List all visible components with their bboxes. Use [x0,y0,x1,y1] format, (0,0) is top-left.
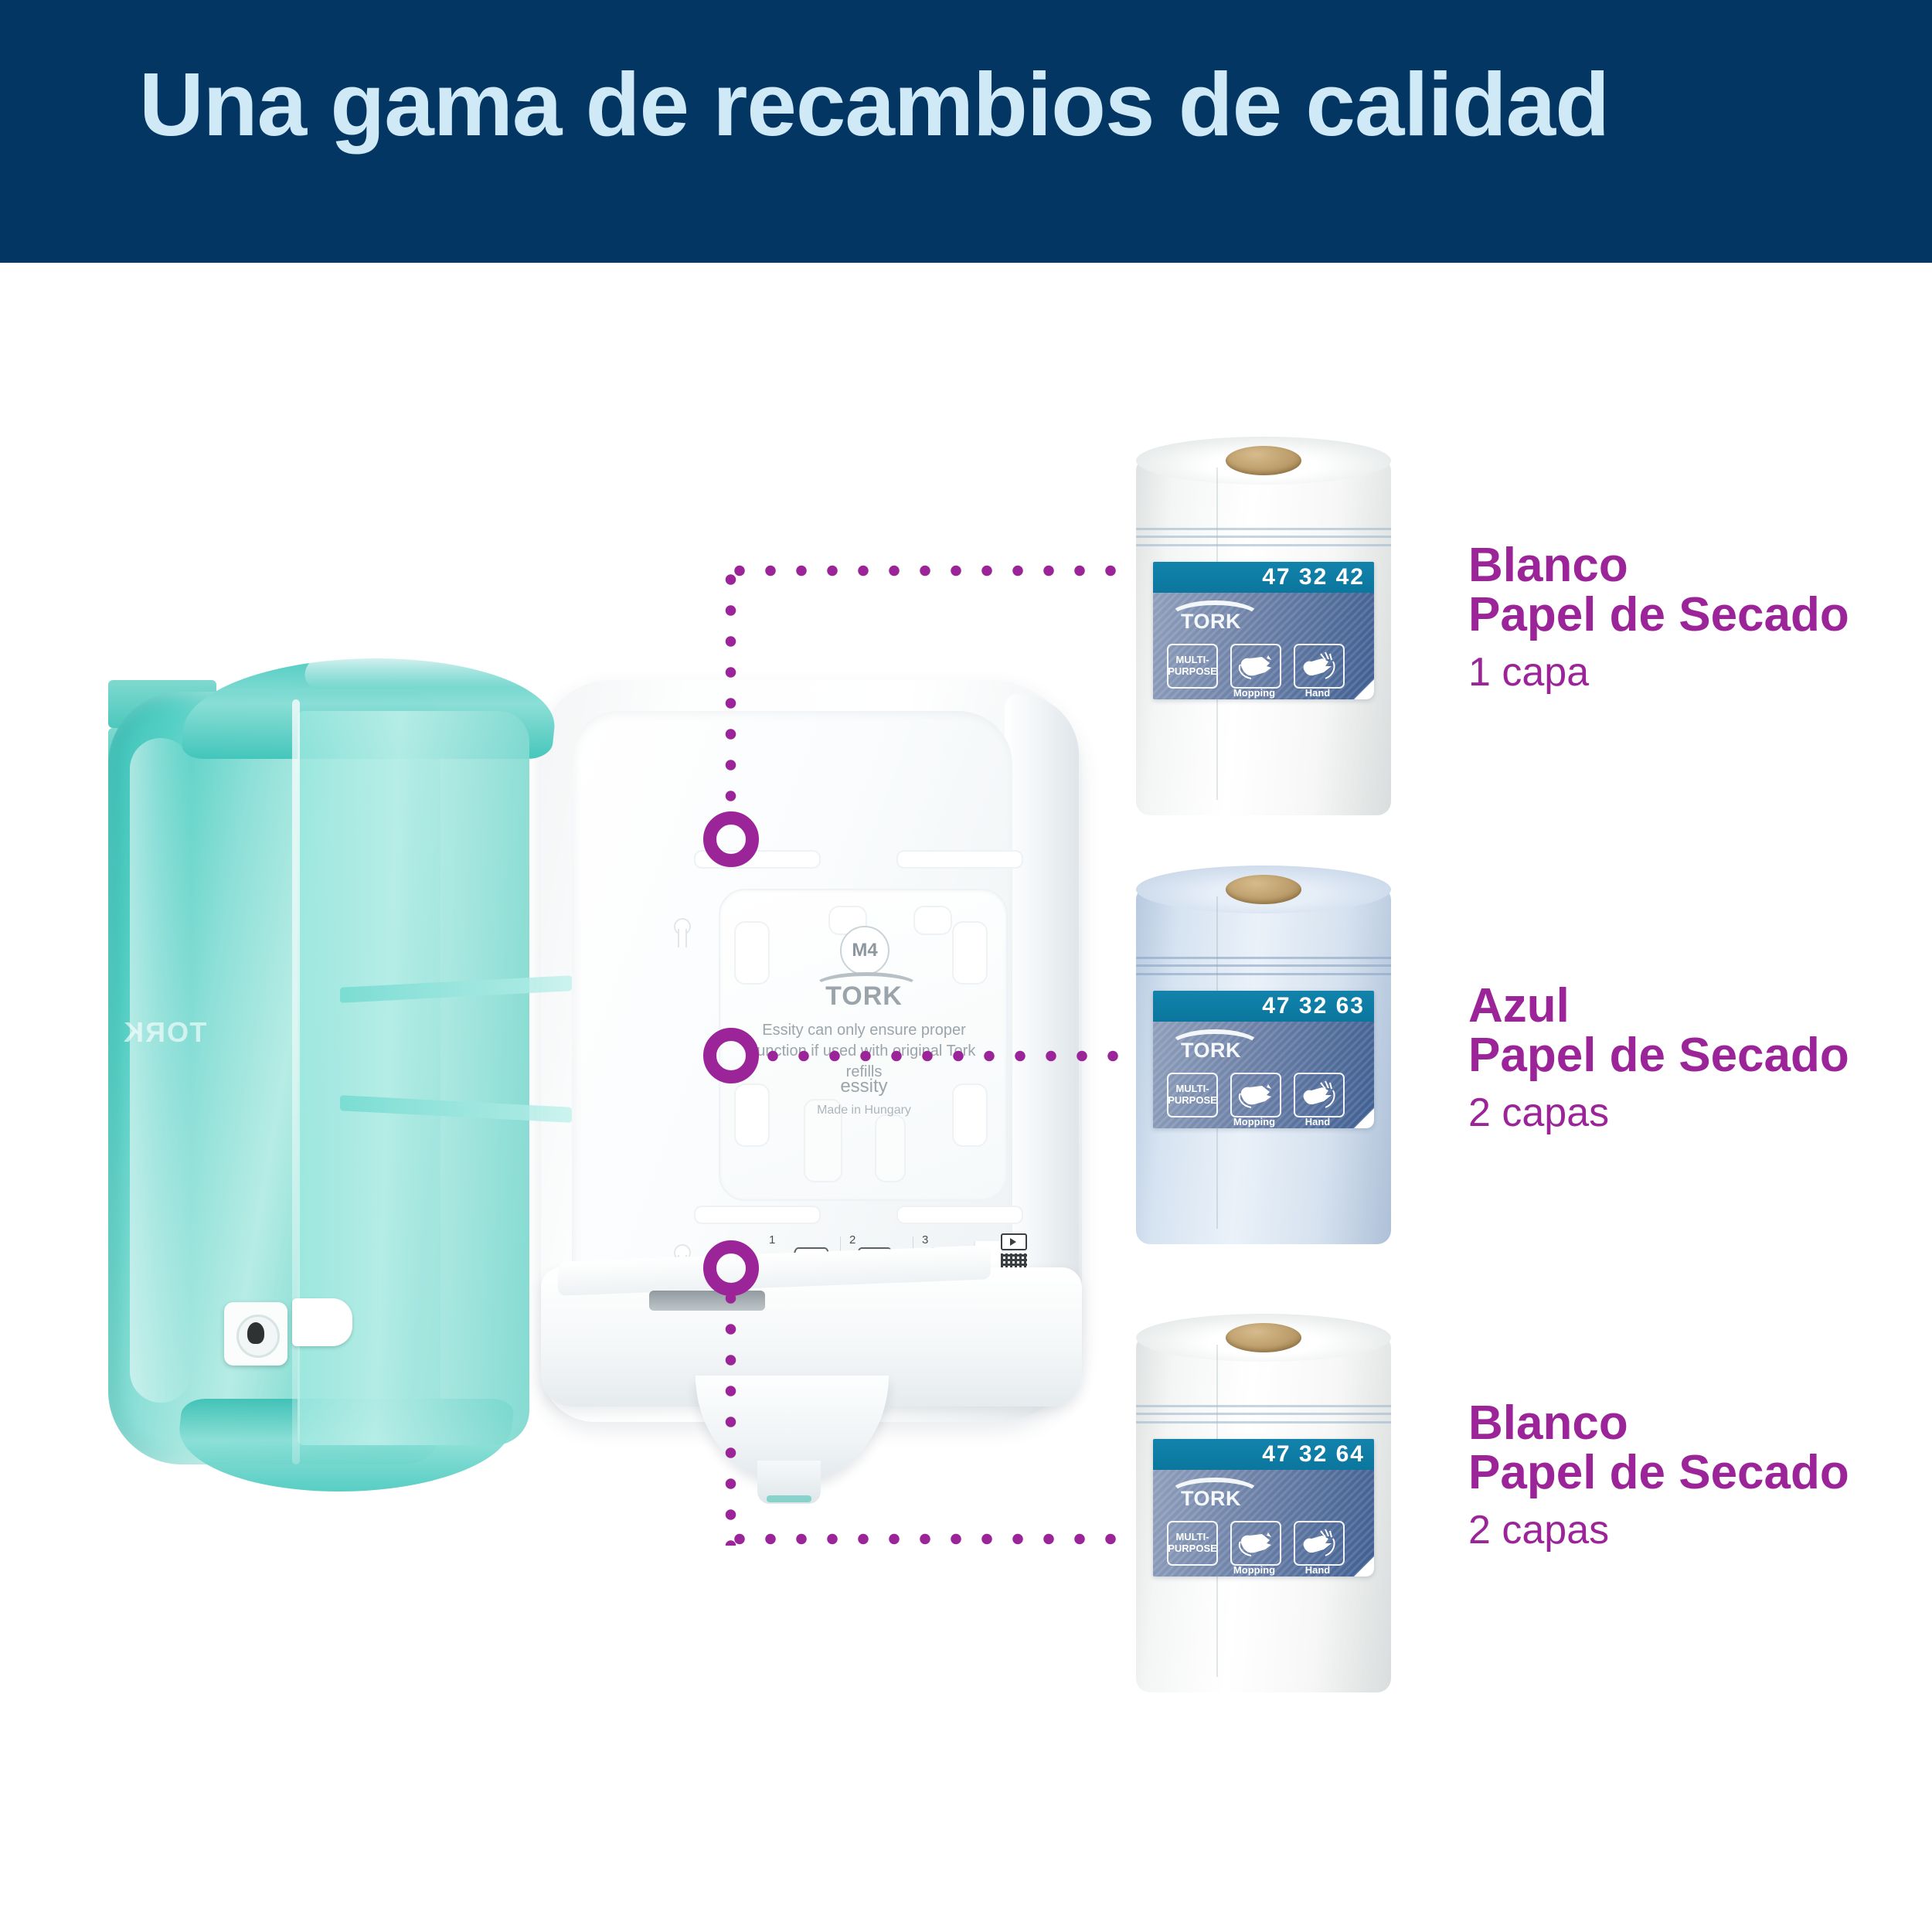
backplate-company: essity [751,1076,977,1097]
multi-purpose-line1: MULTI- [1175,1531,1209,1543]
roll-stripe [1136,973,1391,975]
roll-stripe [1136,544,1391,546]
step-number: 2 [849,1233,855,1247]
product-type: Papel de Secado [1468,590,1932,640]
connector-line-bottom-horizontal [724,1532,1126,1546]
hand-wiping-glyph [1299,1526,1339,1560]
roll-stripe [1136,1405,1391,1407]
step-number: 3 [922,1233,928,1247]
roll-stripe [1136,957,1391,959]
mopping-hand-glyph [1236,649,1276,683]
page-title: Una gama de recambios de calidad [139,56,1609,155]
product-ply: 1 capa [1468,648,1932,696]
interior-vent [896,1206,1023,1224]
mopping-hand-glyph [1236,1078,1276,1112]
hand-wiping-icon [1294,1073,1345,1117]
roll-stripe [1136,528,1391,530]
product-label-2: 47 32 63 TORK MULTI- PURPOSE [1153,991,1374,1128]
label-body: TORK MULTI- PURPOSE [1153,1022,1374,1128]
connector-ring-middle [703,1028,759,1083]
multi-purpose-text: MULTI- PURPOSE [1168,1532,1217,1555]
roll-stripe [1136,964,1391,967]
product-ply: 2 capas [1468,1506,1932,1554]
mopping-hand-glyph [1236,1526,1276,1560]
product-roll-3: 47 32 64 TORK MULTI- PURPOSE [1136,1314,1391,1692]
multi-purpose-badge: MULTI- PURPOSE [1167,644,1218,689]
cover-top-highlight [301,654,596,688]
cover-seam [292,699,300,1464]
roll-core-hole [1226,446,1301,475]
product-color-name: Blanco [1468,1399,1932,1448]
tork-wordmark: TORK [1165,1039,1257,1063]
article-number: 47 32 42 [1262,564,1374,590]
m4-system-badge: M4 [840,926,889,975]
connector-ring-bottom [703,1240,759,1296]
cover-highlight [130,738,192,1403]
multi-purpose-badge: MULTI- PURPOSE [1167,1073,1218,1117]
multi-purpose-line2: PURPOSE [1168,1543,1217,1554]
backplate-slot [875,1114,906,1182]
product-roll-2: 47 32 63 TORK MULTI- PURPOSE [1136,866,1391,1244]
backplate-slot [913,906,952,935]
cover-lock[interactable] [224,1302,287,1366]
backplate-slot [734,921,770,985]
tork-wordmark: TORK [1165,1487,1257,1511]
dispenser-illustration: M4 TORK Essity can only ensure proper fu… [108,680,1082,1546]
label-body: TORK MULTI- PURPOSE [1153,1470,1374,1577]
product-label-3: 47 32 64 TORK MULTI- PURPOSE [1153,1439,1374,1577]
product-color-name: Blanco [1468,541,1932,590]
keyhole-icon [247,1322,264,1344]
video-icon [1001,1233,1027,1250]
multi-purpose-line2: PURPOSE [1168,665,1217,677]
multi-purpose-line1: MULTI- [1175,654,1209,665]
product-color-name: Azul [1468,981,1932,1031]
multi-purpose-text: MULTI- PURPOSE [1168,655,1217,678]
hand-wiping-label: Hand Wiping [1287,1116,1348,1128]
product-type: Papel de Secado [1468,1448,1932,1498]
step-number: 1 [769,1233,775,1247]
backplate-origin: Made in Hungary [751,1104,977,1117]
nozzle-tip [757,1461,821,1504]
mopping-icon [1230,1521,1281,1566]
product-type: Papel de Secado [1468,1031,1932,1080]
tork-logo: TORK [1165,600,1257,634]
tork-wordmark: TORK [1165,610,1257,634]
mopping-icon [1230,644,1281,689]
paper-exit-slot [649,1291,765,1311]
roll-core-hole [1226,875,1301,904]
multi-purpose-line1: MULTI- [1175,1083,1209,1094]
mounting-keyhole [671,918,691,949]
backplate-slot [952,921,988,985]
interior-vent [694,1206,821,1224]
cover-tork-logo: TORK [122,1016,206,1049]
connector-line-middle-horizontal [757,1049,1128,1063]
connector-ring-top [703,811,759,867]
tork-logo: TORK [1165,1478,1257,1512]
connector-line-bottom-vertical [724,1283,737,1546]
hand-wiping-icon [1294,1521,1345,1566]
mopping-icon [1230,1073,1281,1117]
product-text-1: Blanco Papel de Secado 1 capa [1468,541,1932,696]
infographic-canvas: Una gama de recambios de calidad [0,0,1932,1932]
product-roll-1: 47 32 42 TORK MULTI- PURPOSE [1136,437,1391,815]
product-text-2: Azul Papel de Secado 2 capas [1468,981,1932,1137]
label-body: TORK MULTI- PURPOSE [1153,593,1374,699]
header-band: Una gama de recambios de calidad [0,0,1932,263]
multi-purpose-badge: MULTI- PURPOSE [1167,1521,1218,1566]
hand-wiping-label: Hand Wiping [1287,687,1348,699]
connector-line-top-horizontal [724,564,1126,577]
mopping-label: Mopping [1224,1116,1284,1128]
hand-wiping-label: Hand Wiping [1287,1564,1348,1577]
product-ply: 2 capas [1468,1089,1932,1137]
dispenser-backplate: M4 TORK Essity can only ensure proper fu… [719,889,1008,1201]
connector-line-top-vertical [724,564,737,811]
mopping-label: Mopping [1224,687,1284,699]
label-article-bar: 47 32 64 [1153,1439,1374,1470]
label-article-bar: 47 32 63 [1153,991,1374,1022]
product-text-3: Blanco Papel de Secado 2 capas [1468,1399,1932,1554]
roll-stripe [1136,1421,1391,1423]
article-number: 47 32 64 [1262,1441,1374,1468]
backplate-brand: TORK [811,981,917,1012]
hand-wiping-glyph [1299,1078,1339,1112]
multi-purpose-text: MULTI- PURPOSE [1168,1083,1217,1107]
roll-core-hole [1226,1323,1301,1352]
hand-wiping-glyph [1299,649,1339,683]
interior-vent [896,850,1023,869]
article-number: 47 32 63 [1262,993,1374,1019]
hand-wiping-icon [1294,644,1345,689]
mopping-label: Mopping [1224,1564,1284,1576]
roll-stripe [1136,1413,1391,1415]
tork-logo: TORK [1165,1029,1257,1063]
label-article-bar: 47 32 42 [1153,562,1374,593]
cover-latch-tab [292,1298,352,1346]
product-label-1: 47 32 42 TORK MULTI- PURPOSE [1153,562,1374,699]
roll-stripe [1136,536,1391,538]
multi-purpose-line2: PURPOSE [1168,1094,1217,1106]
